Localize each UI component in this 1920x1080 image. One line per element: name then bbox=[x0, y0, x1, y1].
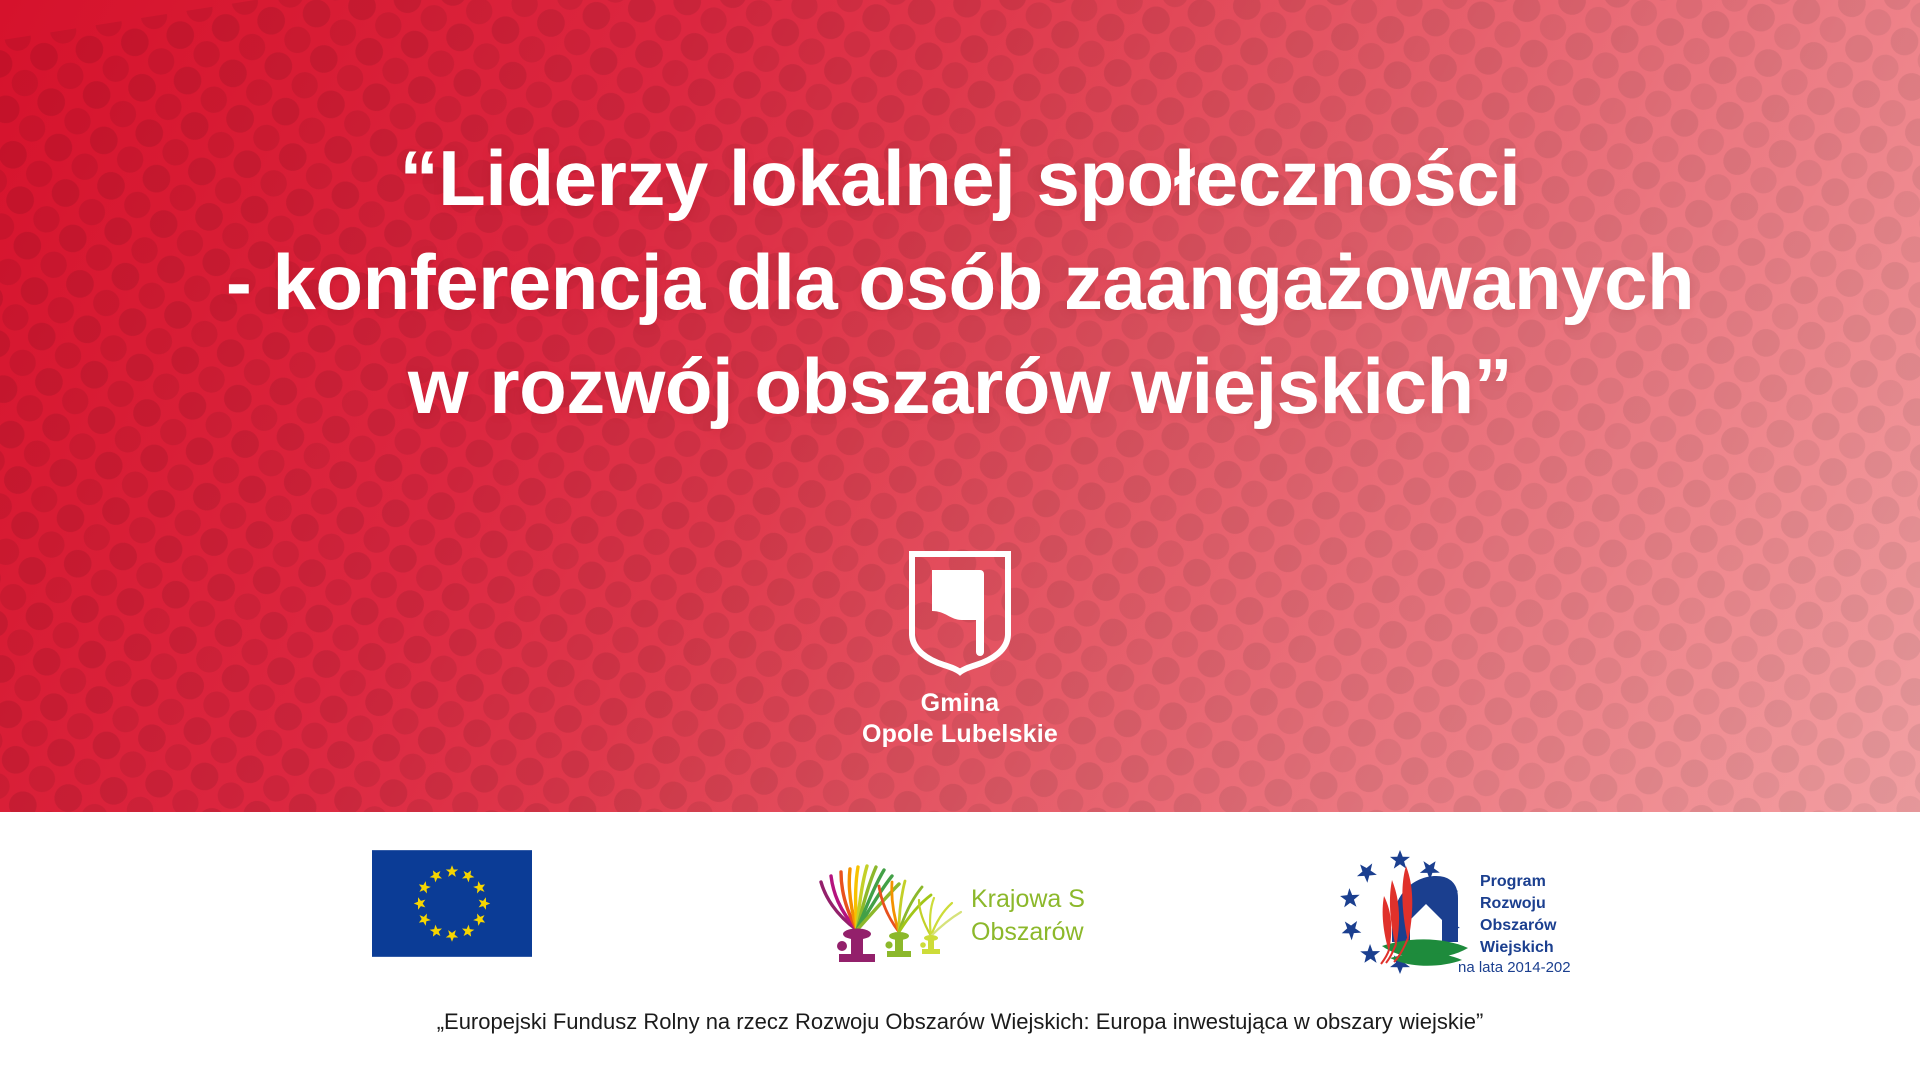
prow-text-line-3: Obszarów bbox=[1480, 917, 1557, 934]
funding-logos: Krajowa Sieć Obszarów Wiejskich bbox=[0, 850, 1920, 970]
prow-text-line-1: Program bbox=[1480, 873, 1546, 890]
crest-line-2: Opole Lubelskie bbox=[862, 719, 1058, 750]
ksow-logo: Krajowa Sieć Obszarów Wiejskich bbox=[795, 850, 1085, 967]
hero-banner: “Liderzy lokalnej społeczności - konfere… bbox=[0, 0, 1920, 812]
title-line-2: - konferencja dla osób zaangażowanych bbox=[0, 230, 1920, 334]
prow-logo-icon: Program Rozwoju Obszarów Wiejskich na la… bbox=[1340, 962, 1570, 979]
funding-caption: „Europejski Fundusz Rolny na rzecz Rozwo… bbox=[0, 1008, 1920, 1036]
title-line-1: “Liderzy lokalnej społeczności bbox=[0, 126, 1920, 230]
crest-line-1: Gmina bbox=[921, 689, 1000, 717]
municipality-crest: Gmina Opole Lubelskie bbox=[0, 548, 1920, 750]
prow-text-line-4: Wiejskich bbox=[1480, 939, 1554, 956]
prow-logo: Program Rozwoju Obszarów Wiejskich na la… bbox=[1340, 850, 1570, 980]
european-union-flag-icon bbox=[372, 944, 532, 961]
ksow-text-line-2: Obszarów Wiejskich bbox=[971, 918, 1085, 946]
crest-caption: Gmina Opole Lubelskie bbox=[862, 688, 1058, 750]
prow-text-line-5: na lata 2014-2020 bbox=[1458, 959, 1570, 975]
poster-root: “Liderzy lokalnej społeczności - konfere… bbox=[0, 0, 1920, 1080]
title-line-3: w rozwój obszarów wiejskich” bbox=[0, 334, 1920, 438]
ksow-text-line-1: Krajowa Sieć bbox=[971, 885, 1085, 913]
eu-flag-logo bbox=[372, 850, 532, 962]
ksow-logo-icon: Krajowa Sieć Obszarów Wiejskich bbox=[795, 949, 1085, 966]
footer-band: Krajowa Sieć Obszarów Wiejskich bbox=[0, 812, 1920, 1080]
prow-text-line-2: Rozwoju bbox=[1480, 895, 1546, 912]
page-title: “Liderzy lokalnej społeczności - konfere… bbox=[0, 126, 1920, 438]
coat-of-arms-shield-with-banner-icon bbox=[906, 548, 1014, 676]
